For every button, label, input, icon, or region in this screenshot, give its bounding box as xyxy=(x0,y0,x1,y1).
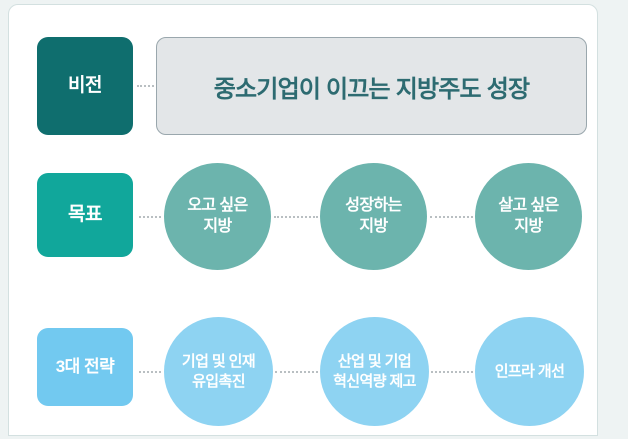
diagram-frame: 비전 중소기업이 이끄는 지방주도 성장 목표 오고 싶은 지방 성장하는 지방… xyxy=(8,4,598,436)
strategy-circle-3-line1: 인프라 개선 xyxy=(495,362,565,381)
vision-statement-text: 중소기업이 이끄는 지방주도 성장 xyxy=(214,69,530,104)
connector-strategy-circle-1-to-2 xyxy=(275,371,318,375)
vision-label-badge: 비전 xyxy=(37,37,133,135)
goal-circle-1: 오고 싶은 지방 xyxy=(164,163,271,270)
goal-circle-2: 성장하는 지방 xyxy=(320,163,427,270)
goal-circle-2-line1: 성장하는 xyxy=(345,196,401,216)
strategy-label-badge: 3대 전략 xyxy=(37,328,133,406)
connector-goal-circle-2-to-3 xyxy=(430,216,473,220)
strategy-circle-2: 산업 및 기업 혁신역량 제고 xyxy=(320,317,429,426)
connector-goal-circle-1-to-2 xyxy=(274,216,318,220)
goal-label-badge: 목표 xyxy=(37,173,133,257)
goal-circle-2-line2: 지방 xyxy=(359,217,387,237)
goal-circle-1-line1: 오고 싶은 xyxy=(187,196,247,216)
goal-circle-3: 살고 싶은 지방 xyxy=(475,163,582,270)
strategy-circle-1: 기업 및 인재 유입촉진 xyxy=(164,317,273,426)
goal-circle-1-line2: 지방 xyxy=(203,217,231,237)
connector-strategy-badge-to-circle-1 xyxy=(139,371,161,375)
connector-goal-badge-to-circle-1 xyxy=(139,216,161,220)
goal-circle-3-line2: 지방 xyxy=(514,217,542,237)
strategy-circle-3: 인프라 개선 xyxy=(475,317,584,426)
connector-vision-banner xyxy=(137,85,154,89)
vision-statement-banner: 중소기업이 이끄는 지방주도 성장 xyxy=(156,37,587,135)
strategy-circle-2-line1: 산업 및 기업 xyxy=(338,352,411,371)
strategy-circle-1-line1: 기업 및 인재 xyxy=(182,352,255,371)
connector-strategy-circle-2-to-3 xyxy=(431,371,473,375)
goal-circle-3-line1: 살고 싶은 xyxy=(498,196,558,216)
strategy-circle-2-line2: 혁신역량 제고 xyxy=(333,372,416,391)
strategy-circle-1-line2: 유입촉진 xyxy=(192,372,245,391)
